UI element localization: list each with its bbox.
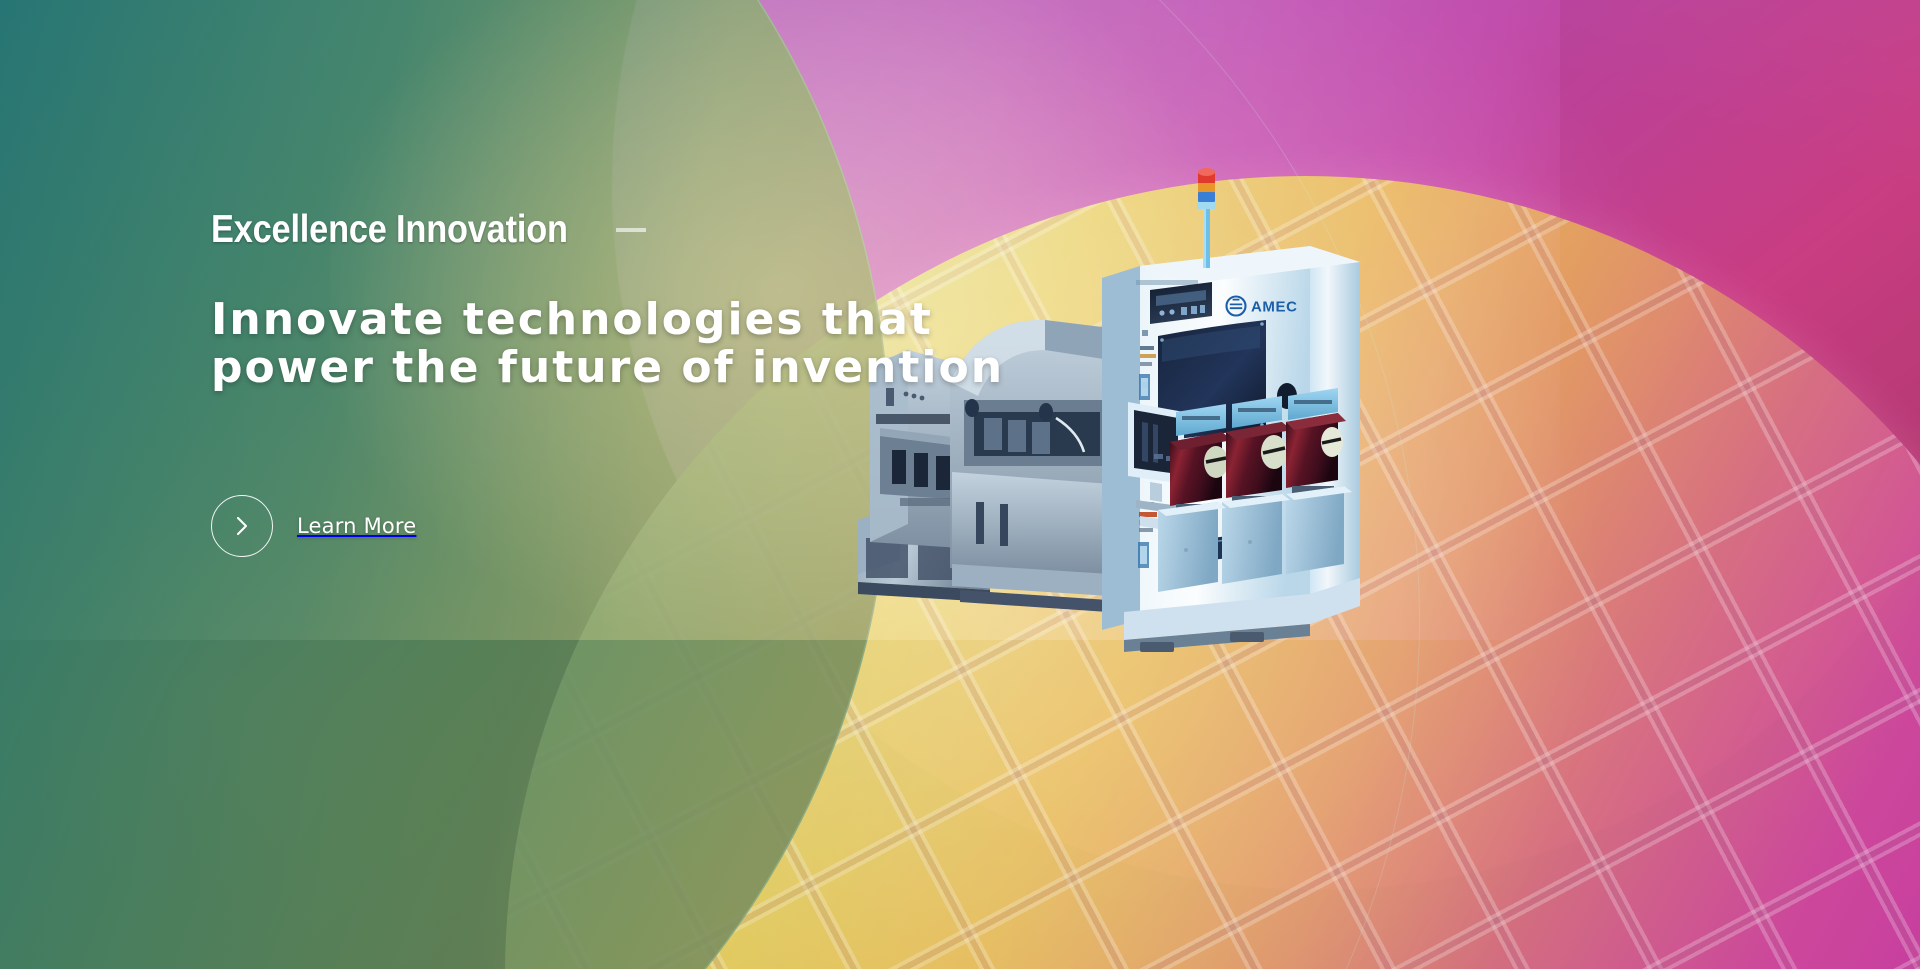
eyebrow-text: Excellence Innovation bbox=[211, 210, 568, 249]
page-title: Innovate technologies that power the fut… bbox=[211, 296, 1004, 391]
hero-banner: AMEC bbox=[0, 0, 1920, 969]
eyebrow-dash-icon bbox=[616, 228, 646, 232]
learn-more-label: Learn More bbox=[297, 514, 416, 538]
learn-more-button[interactable]: Learn More bbox=[211, 495, 416, 557]
hero-content: Excellence Innovation Innovate technolog… bbox=[211, 0, 1071, 969]
eyebrow-row: Excellence Innovation bbox=[211, 210, 668, 249]
chevron-right-icon bbox=[211, 495, 273, 557]
